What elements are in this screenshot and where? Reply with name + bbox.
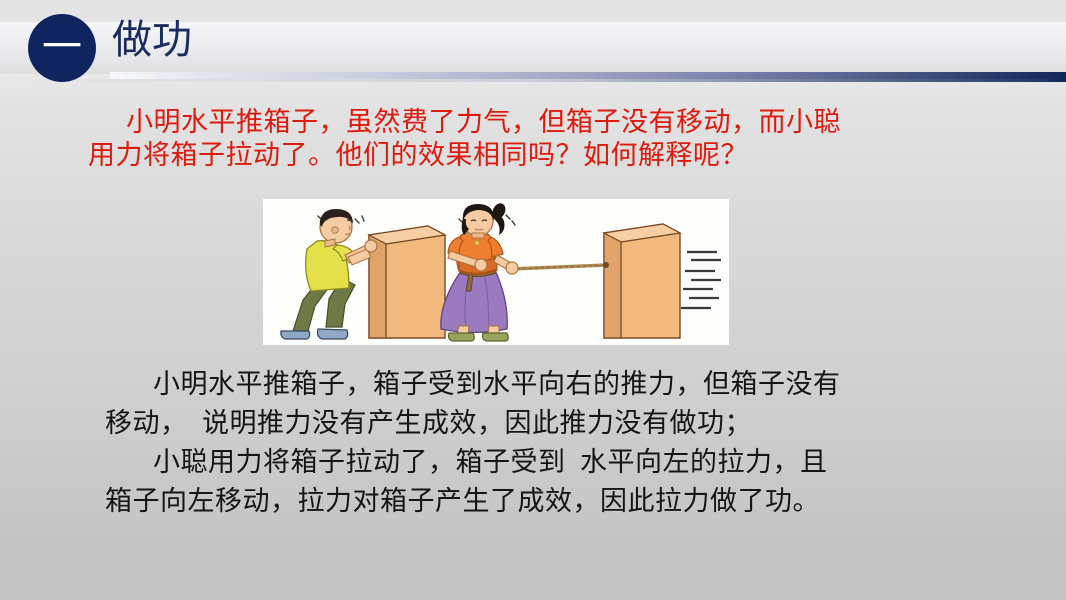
explanation-p2-line-2: 箱子向左移动，拉力对箱子产生了成效，因此拉力做了功。 (105, 482, 1005, 521)
page-title: 做功 (112, 18, 192, 62)
box-moving (604, 224, 680, 338)
slide-header: 一 做功 (0, 0, 1066, 88)
question-line-2: 用力将箱子拉动了。他们的效果相同吗？如何解释呢？ (88, 139, 988, 172)
presentation-slide: 一 做功 小明水平推箱子，虽然费了力气，但箱子没有移动，而小聪 用力将箱子拉动了… (0, 0, 1066, 600)
physics-illustration (263, 199, 729, 345)
question-line-1: 小明水平推箱子，虽然费了力气，但箱子没有移动，而小聪 (88, 106, 988, 139)
illustration-svg (263, 199, 729, 345)
explanation-p1-line-1: 小明水平推箱子，箱子受到水平向右的推力，但箱子没有 (105, 365, 1005, 404)
section-number-badge: 一 (28, 14, 96, 82)
question-text: 小明水平推箱子，虽然费了力气，但箱子没有移动，而小聪 用力将箱子拉动了。他们的效… (88, 106, 988, 172)
explanation-p2-line-1: 小聪用力将箱子拉动了，箱子受到 水平向左的拉力，且 (105, 443, 1005, 482)
explanation-text: 小明水平推箱子，箱子受到水平向右的推力，但箱子没有 移动， 说明推力没有产生成效… (105, 365, 1005, 521)
box-static (369, 226, 445, 338)
title-divider-gradient (110, 72, 1066, 79)
title-divider-shadow (0, 79, 1066, 82)
section-number-label: 一 (42, 27, 82, 67)
explanation-p1-line-2: 移动， 说明推力没有产生成效，因此推力没有做功； (105, 404, 1005, 443)
